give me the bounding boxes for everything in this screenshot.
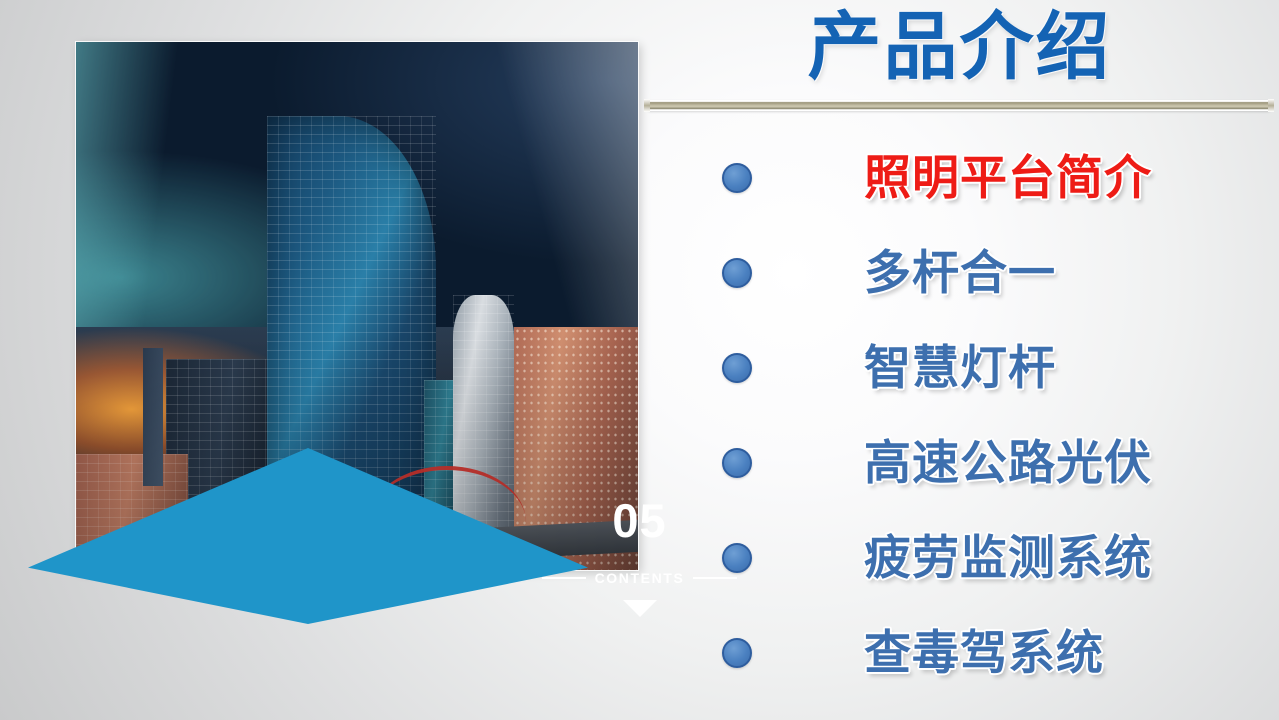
page-title: 产品介绍 bbox=[640, 8, 1279, 86]
list-item-label: 智慧灯杆 bbox=[864, 344, 1056, 391]
title-divider bbox=[648, 100, 1270, 111]
list-item[interactable]: 智慧灯杆 bbox=[700, 320, 1260, 415]
bullet-icon bbox=[722, 448, 752, 478]
bullet-icon bbox=[722, 163, 752, 193]
contents-text: CONTENTS bbox=[595, 570, 685, 586]
list-item[interactable]: 查毒驾系统 bbox=[700, 605, 1260, 700]
bullet-icon bbox=[722, 258, 752, 288]
list-item-label: 高速公路光伏 bbox=[864, 439, 1152, 486]
rule-left-icon bbox=[542, 577, 586, 579]
list-item[interactable]: 高速公路光伏 bbox=[700, 415, 1260, 510]
list-item[interactable]: 多杆合一 bbox=[700, 225, 1260, 320]
agenda-list: 照明平台简介 多杆合一 智慧灯杆 高速公路光伏 疲劳监测系统 查毒驾系统 bbox=[700, 130, 1260, 700]
section-number: 05 bbox=[0, 497, 1279, 544]
presentation-slide: 05 CONTENTS 产品介绍 照明平台简介 多杆合一 智慧灯杆 高速公路光伏… bbox=[0, 0, 1279, 720]
bullet-icon bbox=[722, 638, 752, 668]
list-item-label: 多杆合一 bbox=[864, 249, 1056, 296]
rule-right-icon bbox=[693, 577, 737, 579]
bullet-icon bbox=[722, 543, 752, 573]
bullet-icon bbox=[722, 353, 752, 383]
list-item[interactable]: 照明平台简介 bbox=[700, 130, 1260, 225]
list-item-label: 照明平台简介 bbox=[864, 154, 1152, 201]
down-caret-icon bbox=[623, 600, 657, 617]
section-contents-label: CONTENTS bbox=[0, 570, 1279, 586]
list-item-label: 查毒驾系统 bbox=[864, 629, 1104, 676]
